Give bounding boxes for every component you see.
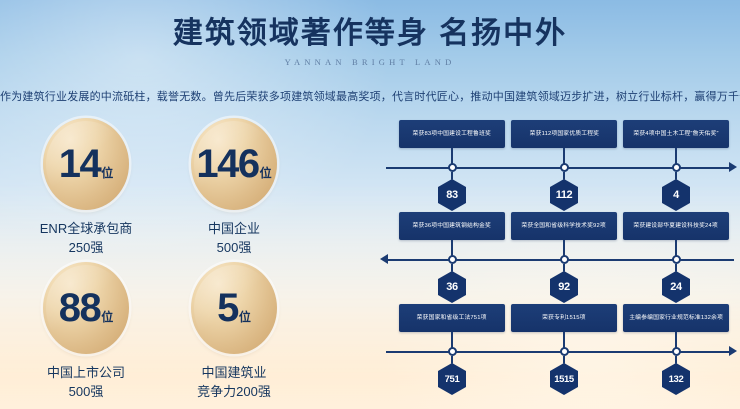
award-chip[interactable]: 荣获112项国家优质工程奖	[511, 120, 617, 148]
count-value: 1515	[554, 374, 574, 385]
award-label: 荣获4项中国土木工程“詹天佑奖”	[633, 130, 718, 138]
count-hexagon: 24	[662, 271, 690, 303]
timeline-row: 荣获83项中国建设工程鲁班奖 83 荣获112项国家优质工程奖 112 荣获4项…	[372, 120, 740, 212]
count-hexagon: 112	[550, 179, 578, 211]
node-dot-icon	[672, 163, 681, 172]
stat-unit: 位	[260, 164, 272, 181]
timeline-node[interactable]: 荣获建设部华夏建设科技奖24项 24	[623, 212, 729, 240]
timeline-node[interactable]: 荣获全国和省级科学技术奖92项 92	[511, 212, 617, 240]
arrow-left-icon	[380, 254, 388, 264]
stat-label: ENR全球承包商 250强	[2, 219, 170, 257]
timeline-node[interactable]: 荣获4项中国土木工程“詹天佑奖” 4	[623, 120, 729, 148]
timeline-node[interactable]: 荣获83项中国建设工程鲁班奖 83	[399, 120, 505, 148]
timeline-node[interactable]: 荣获国家和省级工法751项 751	[399, 304, 505, 332]
stat-card: 14 位 ENR全球承包商 250强	[2, 118, 170, 257]
stat-label: 中国上市公司 500强	[2, 363, 170, 401]
count-value: 83	[446, 189, 457, 201]
count-hexagon: 1515	[550, 363, 578, 395]
node-dot-icon	[560, 347, 569, 356]
stat-number: 88	[59, 288, 101, 328]
count-hexagon: 751	[438, 363, 466, 395]
awards-timeline: 荣获83项中国建设工程鲁班奖 83 荣获112项国家优质工程奖 112 荣获4项…	[372, 120, 740, 405]
count-value: 4	[673, 189, 679, 201]
award-label: 荣获36项中国建筑钢结构金奖	[413, 222, 491, 230]
stat-label: 中国建筑业 竞争力200强	[150, 363, 318, 401]
count-value: 36	[446, 281, 457, 293]
stat-number: 5	[217, 288, 238, 328]
count-hexagon: 36	[438, 271, 466, 303]
award-label: 主编参编国家行业规范标准132余项	[629, 314, 723, 322]
stat-card: 88 位 中国上市公司 500强	[2, 262, 170, 401]
stat-unit: 位	[101, 308, 113, 325]
page-header: 建筑领域著作等身 名扬中外 YANNAN BRIGHT LAND	[0, 14, 740, 67]
award-label: 荣获83项中国建设工程鲁班奖	[413, 130, 491, 138]
stat-number: 146	[196, 144, 258, 184]
page-subtitle: YANNAN BRIGHT LAND	[0, 57, 740, 67]
count-value: 24	[670, 281, 681, 293]
timeline-node[interactable]: 主编参编国家行业规范标准132余项 132	[623, 304, 729, 332]
stat-label-line2: 500强	[2, 382, 170, 401]
count-value: 751	[445, 374, 460, 385]
stat-label-line1: ENR全球承包商	[2, 219, 170, 238]
stat-label-line2: 250强	[2, 238, 170, 257]
page-title: 建筑领域著作等身 名扬中外	[0, 14, 740, 54]
award-chip[interactable]: 荣获36项中国建筑钢结构金奖	[399, 212, 505, 240]
award-chip[interactable]: 荣获4项中国土木工程“詹天佑奖”	[623, 120, 729, 148]
count-hexagon: 83	[438, 179, 466, 211]
arrow-right-icon	[729, 346, 737, 356]
timeline-node[interactable]: 荣获专利1515项 1515	[511, 304, 617, 332]
node-dot-icon	[672, 347, 681, 356]
timeline-row: 荣获国家和省级工法751项 751 荣获专利1515项 1515 主编参编国家行…	[372, 304, 740, 396]
node-dot-icon	[672, 255, 681, 264]
count-hexagon: 4	[662, 179, 690, 211]
stat-card: 146 位 中国企业 500强	[150, 118, 318, 257]
award-label: 荣获专利1515项	[542, 314, 585, 322]
stats-grid: 14 位 ENR全球承包商 250强 146 位 中国企业 500强 88 位	[0, 118, 368, 403]
award-chip[interactable]: 荣获国家和省级工法751项	[399, 304, 505, 332]
node-dot-icon	[448, 255, 457, 264]
stat-label-line1: 中国建筑业	[150, 363, 318, 382]
stat-label-line2: 500强	[150, 238, 318, 257]
node-dot-icon	[448, 347, 457, 356]
stat-card: 5 位 中国建筑业 竞争力200强	[150, 262, 318, 401]
timeline-node[interactable]: 荣获36项中国建筑钢结构金奖 36	[399, 212, 505, 240]
award-chip[interactable]: 荣获全国和省级科学技术奖92项	[511, 212, 617, 240]
award-label: 荣获112项国家优质工程奖	[529, 130, 598, 138]
award-chip[interactable]: 荣获83项中国建设工程鲁班奖	[399, 120, 505, 148]
arrow-right-icon	[729, 162, 737, 172]
stat-label-line2: 竞争力200强	[150, 382, 318, 401]
stat-unit: 位	[101, 164, 113, 181]
timeline-row: 荣获36项中国建筑钢结构金奖 36 荣获全国和省级科学技术奖92项 92 荣获建…	[372, 212, 740, 304]
count-hexagon: 132	[662, 363, 690, 395]
award-chip[interactable]: 荣获专利1515项	[511, 304, 617, 332]
count-value: 132	[669, 374, 684, 385]
award-chip[interactable]: 荣获建设部华夏建设科技奖24项	[623, 212, 729, 240]
stat-label: 中国企业 500强	[150, 219, 318, 257]
page-description: 作为建筑行业发展的中流砥柱，载誉无数。曾先后荣获多项建筑领域最高奖项，代言时代匠…	[0, 88, 740, 104]
count-value: 92	[558, 281, 569, 293]
award-chip[interactable]: 主编参编国家行业规范标准132余项	[623, 304, 729, 332]
stat-circle: 146 位	[191, 118, 277, 210]
stat-unit: 位	[239, 308, 251, 325]
stat-label-line1: 中国上市公司	[2, 363, 170, 382]
count-value: 112	[556, 189, 573, 201]
award-label: 荣获建设部华夏建设科技奖24项	[634, 222, 718, 230]
stat-label-line1: 中国企业	[150, 219, 318, 238]
node-dot-icon	[560, 163, 569, 172]
stat-number: 14	[59, 144, 101, 184]
node-dot-icon	[560, 255, 569, 264]
stat-circle: 88 位	[43, 262, 129, 354]
timeline-node[interactable]: 荣获112项国家优质工程奖 112	[511, 120, 617, 148]
count-hexagon: 92	[550, 271, 578, 303]
stat-circle: 5 位	[191, 262, 277, 354]
node-dot-icon	[448, 163, 457, 172]
award-label: 荣获全国和省级科学技术奖92项	[522, 222, 606, 230]
stat-circle: 14 位	[43, 118, 129, 210]
award-label: 荣获国家和省级工法751项	[417, 314, 487, 322]
